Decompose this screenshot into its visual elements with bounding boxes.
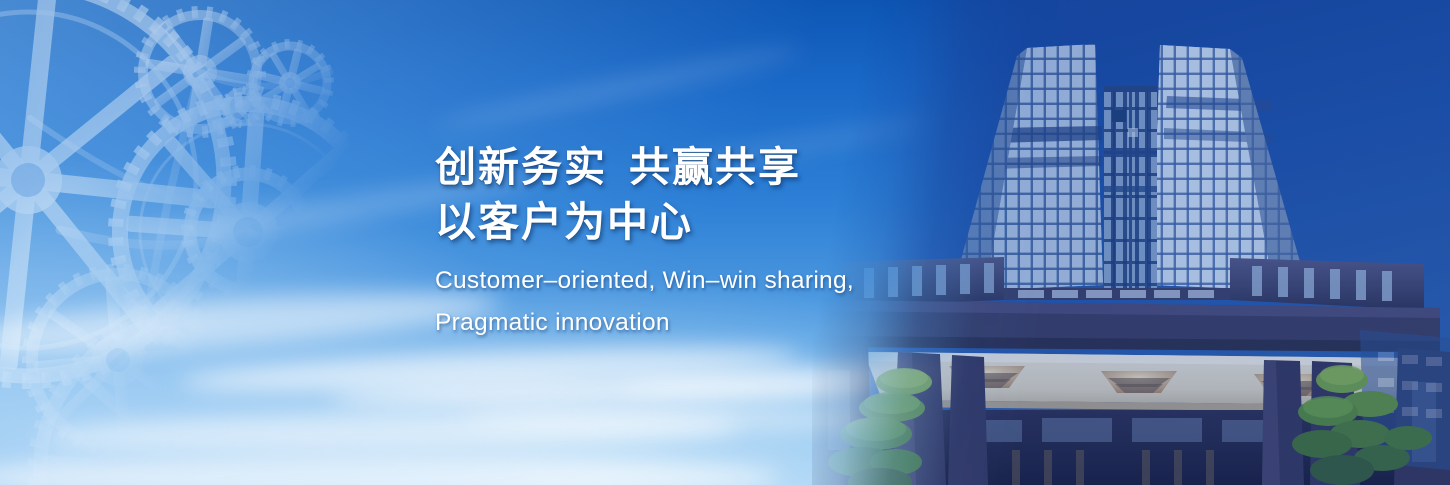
subtitle-english-line-1: Customer–oriented, Win–win sharing,	[435, 260, 955, 302]
headline-chinese-line-1: 创新务实共赢共享	[435, 140, 955, 195]
hero-banner: 创新务实共赢共享 以客户为中心 Customer–oriented, Win–w…	[0, 0, 1450, 485]
banner-copy: 创新务实共赢共享 以客户为中心 Customer–oriented, Win–w…	[435, 140, 955, 344]
headline-cn-part-1: 创新务实	[435, 144, 607, 190]
headline-chinese-line-2: 以客户为中心	[435, 195, 955, 250]
subtitle-english-line-2: Pragmatic innovation	[435, 302, 955, 344]
headline-cn-part-2: 共赢共享	[629, 144, 801, 190]
